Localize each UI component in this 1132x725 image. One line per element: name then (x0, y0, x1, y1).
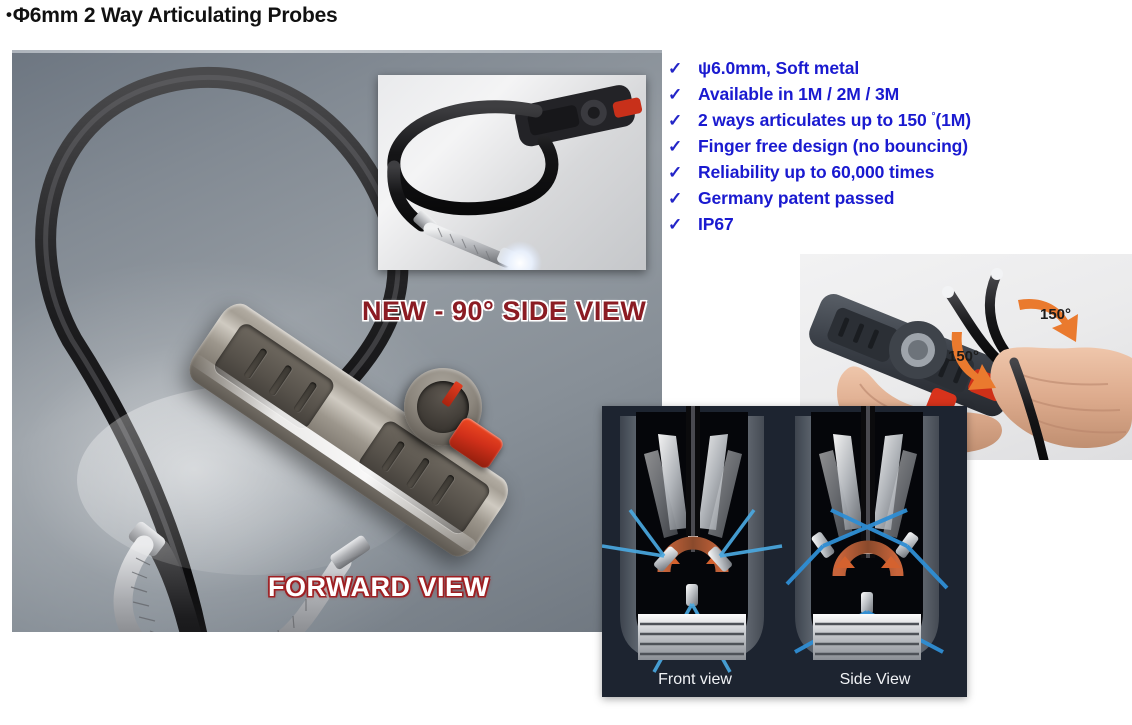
diagram-label-front-view: Front view (610, 671, 780, 689)
feature-label-main: 2 ways articulates up to 150 (698, 110, 931, 130)
grip-ridge (430, 474, 455, 506)
check-icon: ✓ (668, 56, 698, 82)
caption-forward-view: FORWARD VIEW (268, 572, 490, 603)
feature-item: ✓ Germany patent passed (668, 186, 1128, 212)
check-icon: ✓ (668, 212, 698, 238)
check-icon: ✓ (668, 134, 698, 160)
feature-item: ✓ Reliability up to 60,000 times (668, 160, 1128, 186)
feature-label: Finger free design (no bouncing) (698, 136, 968, 157)
grip-ridge (268, 364, 293, 396)
cylinder-diagram-panel: Front view Side View (602, 406, 967, 697)
feature-item: ✓ IP67 (668, 212, 1128, 238)
grip-ridge (293, 381, 318, 413)
feature-item: ✓ ψ6.0mm, Soft metal (668, 56, 1128, 82)
feature-label: Available in 1M / 2M / 3M (698, 84, 899, 105)
angle-label-left: 150° (948, 348, 979, 365)
check-icon: ✓ (668, 186, 698, 212)
grip-ridge (381, 440, 406, 472)
feature-label-tail: (1M) (935, 110, 971, 130)
lit-probe-illustration (378, 75, 646, 270)
feature-item: ✓ Finger free design (no bouncing) (668, 134, 1128, 160)
feature-item: ✓ 2 ways articulates up to 150 °(1M) (668, 108, 1128, 134)
cylinder-diagram-illustration (602, 406, 967, 697)
title-text: Φ6mm 2 Way Articulating Probes (13, 4, 338, 27)
check-icon: ✓ (668, 160, 698, 186)
feature-label: Germany patent passed (698, 188, 894, 209)
check-icon: ✓ (668, 82, 698, 108)
diagram-label-side-view: Side View (790, 671, 960, 689)
inset-photo-lit-probe (378, 75, 646, 270)
feature-label: IP67 (698, 214, 734, 235)
feature-label: 2 ways articulates up to 150 °(1M) (698, 110, 971, 131)
title-bullet-icon: • (6, 5, 12, 24)
feature-list: ✓ ψ6.0mm, Soft metal ✓ Available in 1M /… (668, 56, 1128, 238)
angle-label-right: 150° (1040, 306, 1071, 323)
check-icon: ✓ (668, 108, 698, 134)
feature-label: ψ6.0mm, Soft metal (698, 58, 859, 79)
grip-ridge (243, 347, 268, 379)
caption-side-view: NEW - 90° SIDE VIEW (362, 296, 646, 327)
feature-label: Reliability up to 60,000 times (698, 162, 934, 183)
grip-ridge (406, 457, 431, 489)
feature-item: ✓ Available in 1M / 2M / 3M (668, 82, 1128, 108)
page-title: •Φ6mm 2 Way Articulating Probes (6, 4, 338, 28)
